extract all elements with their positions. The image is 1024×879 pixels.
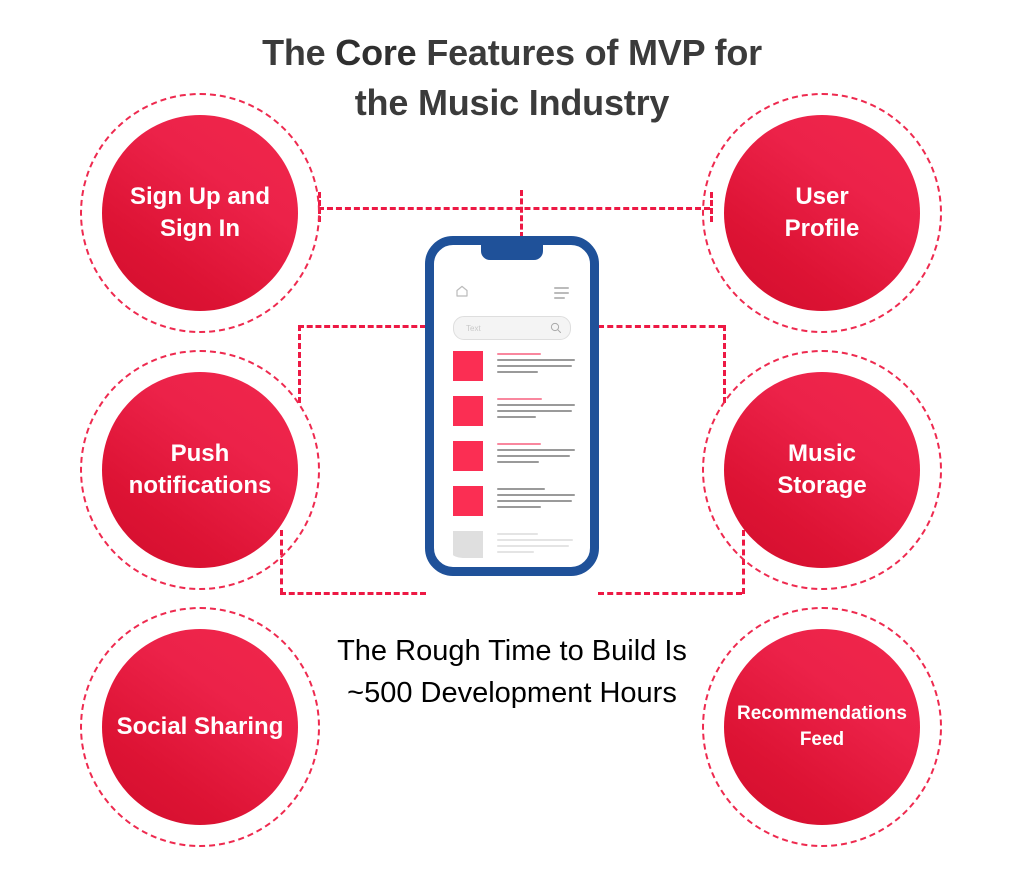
- text-line: [497, 443, 541, 445]
- feature-label: Push notifications: [123, 438, 278, 502]
- list-item-thumbnail: [453, 351, 483, 381]
- title-text-before: The: [262, 32, 335, 73]
- app-topbar: [455, 284, 569, 302]
- text-line: [497, 551, 534, 553]
- text-line: [497, 410, 572, 412]
- text-line: [497, 506, 541, 508]
- list-item-text: [497, 531, 575, 557]
- text-line: [497, 371, 538, 373]
- phone-mockup: Text: [425, 236, 599, 576]
- text-line: [497, 353, 541, 355]
- content-list: [453, 351, 575, 558]
- phone-screen: Text: [443, 254, 581, 558]
- title-emphasis: Core: [335, 32, 416, 73]
- hamburger-menu-icon[interactable]: [554, 287, 569, 302]
- list-item-text: [497, 351, 575, 377]
- text-line: [497, 545, 569, 547]
- feature-user-profile[interactable]: User Profile: [702, 93, 942, 333]
- text-line: [497, 365, 572, 367]
- text-line: [497, 455, 570, 457]
- menu-bar: [554, 297, 565, 299]
- build-time-note: The Rough Time to Build Is ~500 Developm…: [262, 630, 762, 714]
- menu-bar: [554, 287, 569, 289]
- phone-notch: [481, 245, 543, 260]
- list-item-text: [497, 486, 575, 512]
- list-item[interactable]: [453, 486, 575, 516]
- feature-label: User Profile: [779, 181, 866, 245]
- text-line: [497, 539, 573, 541]
- text-line: [497, 500, 572, 502]
- feature-music-storage[interactable]: Music Storage: [702, 350, 942, 590]
- title-line-2: the Music Industry: [355, 82, 669, 123]
- search-icon[interactable]: [550, 322, 562, 334]
- infographic-canvas: The Core Features of MVP for the Music I…: [0, 0, 1024, 879]
- text-line: [497, 494, 575, 496]
- text-line: [497, 449, 575, 451]
- feature-sign-up-and-sign-in[interactable]: Sign Up and Sign In: [80, 93, 320, 333]
- feature-disc: User Profile: [724, 115, 920, 311]
- feature-push-notifications[interactable]: Push notifications: [80, 350, 320, 590]
- phone-frame: Text: [425, 236, 599, 576]
- build-time-line-2: ~500 Development Hours: [347, 677, 677, 709]
- text-line: [497, 416, 536, 418]
- list-item[interactable]: [453, 441, 575, 471]
- search-placeholder: Text: [466, 324, 550, 333]
- home-icon[interactable]: [455, 284, 469, 303]
- feature-label: Social Sharing: [111, 711, 290, 743]
- text-line: [497, 398, 542, 400]
- text-line: [497, 461, 539, 463]
- connector-bottom-horizontal-right: [598, 592, 742, 595]
- connector-top-horizontal: [318, 207, 710, 210]
- title-line-1: The Core Features of MVP for: [262, 32, 762, 73]
- feature-label: Music Storage: [771, 438, 872, 502]
- text-line: [497, 488, 545, 490]
- feature-disc: Music Storage: [724, 372, 920, 568]
- menu-bar: [554, 292, 569, 294]
- list-item[interactable]: [453, 531, 575, 558]
- text-line: [497, 359, 575, 361]
- list-item-thumbnail: [453, 486, 483, 516]
- title-text-after: Features of MVP for: [417, 32, 762, 73]
- connector-phone-top-stub: [520, 190, 523, 238]
- search-input[interactable]: Text: [453, 316, 571, 340]
- list-item-thumbnail: [453, 396, 483, 426]
- text-line: [497, 533, 538, 535]
- list-item[interactable]: [453, 396, 575, 426]
- connector-bottom-horizontal-left: [280, 592, 426, 595]
- list-item-thumbnail: [453, 441, 483, 471]
- list-item-text: [497, 396, 575, 422]
- feature-disc: Push notifications: [102, 372, 298, 568]
- build-time-line-1: The Rough Time to Build Is: [337, 635, 687, 667]
- list-item[interactable]: [453, 351, 575, 381]
- text-line: [497, 404, 575, 406]
- list-item-text: [497, 441, 575, 467]
- list-item-thumbnail: [453, 531, 483, 558]
- feature-label: Sign Up and Sign In: [124, 181, 276, 245]
- feature-disc: Sign Up and Sign In: [102, 115, 298, 311]
